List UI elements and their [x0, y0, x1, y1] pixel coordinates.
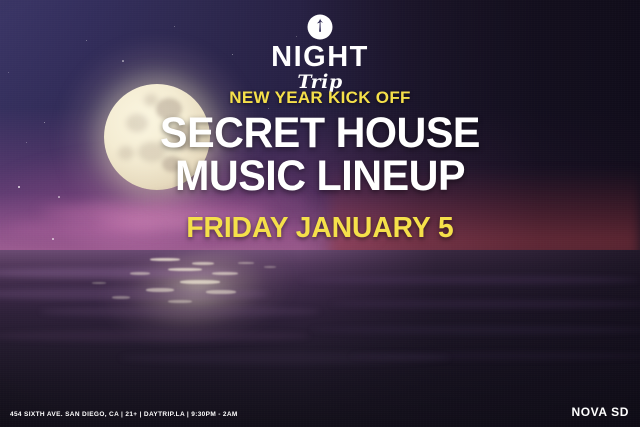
event-date: FRIDAY JANUARY 5 — [10, 212, 631, 245]
venue-details: 454 SIXTH AVE. SAN DIEGO, CA | 21+ | DAY… — [10, 411, 238, 418]
event-flyer: NIGHT Trip NEW YEAR KICK OFF SECRET HOUS… — [0, 0, 640, 427]
flyer-content: NIGHT Trip NEW YEAR KICK OFF SECRET HOUS… — [0, 0, 640, 427]
brand-wordmark: NIGHT — [0, 43, 640, 72]
night-trip-circle-icon — [307, 14, 333, 40]
kicker-text: NEW YEAR KICK OFF — [0, 88, 640, 108]
headline-line-2: MUSIC LINEUP — [13, 155, 627, 198]
headline: SECRET HOUSE MUSIC LINEUP — [0, 112, 640, 197]
brand-logo: NIGHT Trip — [0, 14, 640, 92]
venue-name: NOVA SD — [571, 405, 629, 419]
headline-line-1: SECRET HOUSE — [13, 112, 627, 155]
